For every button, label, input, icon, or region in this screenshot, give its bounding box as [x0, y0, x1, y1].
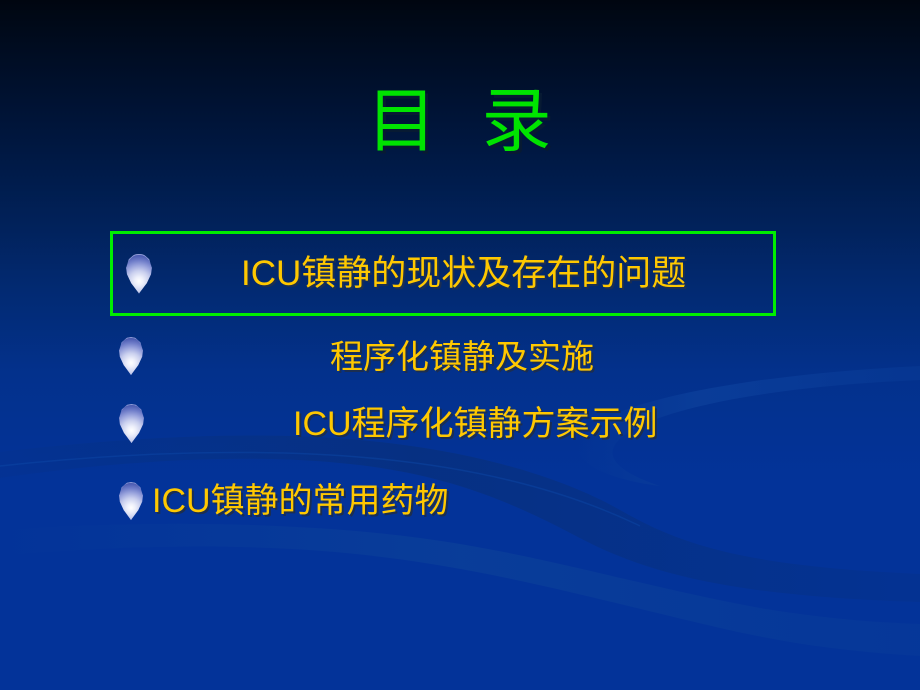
- balloon-bullet-icon: [125, 254, 153, 294]
- presentation-slide: 目 录 ICU镇静的现状及存在的问题 程序化镇静及实施 ICU程序化镇静方案示例…: [0, 0, 920, 690]
- toc-item-3[interactable]: ICU程序化镇静方案示例: [118, 404, 658, 443]
- balloon-bullet-icon: [118, 404, 145, 443]
- toc-item-4-label: ICU镇静的常用药物: [152, 484, 449, 518]
- toc-item-2-label: 程序化镇静及实施: [330, 340, 594, 373]
- balloon-bullet-icon: [118, 482, 144, 520]
- toc-item-4[interactable]: ICU镇静的常用药物: [118, 482, 449, 520]
- toc-item-1-row: ICU镇静的现状及存在的问题: [113, 234, 773, 313]
- toc-item-1-label: ICU镇静的现状及存在的问题: [241, 256, 686, 291]
- swoosh-lower: [0, 524, 920, 656]
- balloon-bullet-icon: [118, 337, 144, 375]
- page-title: 目 录: [0, 86, 920, 156]
- toc-item-2[interactable]: 程序化镇静及实施: [118, 337, 594, 375]
- toc-item-1[interactable]: ICU镇静的现状及存在的问题: [110, 231, 776, 316]
- toc-item-3-label: ICU程序化镇静方案示例: [293, 407, 658, 441]
